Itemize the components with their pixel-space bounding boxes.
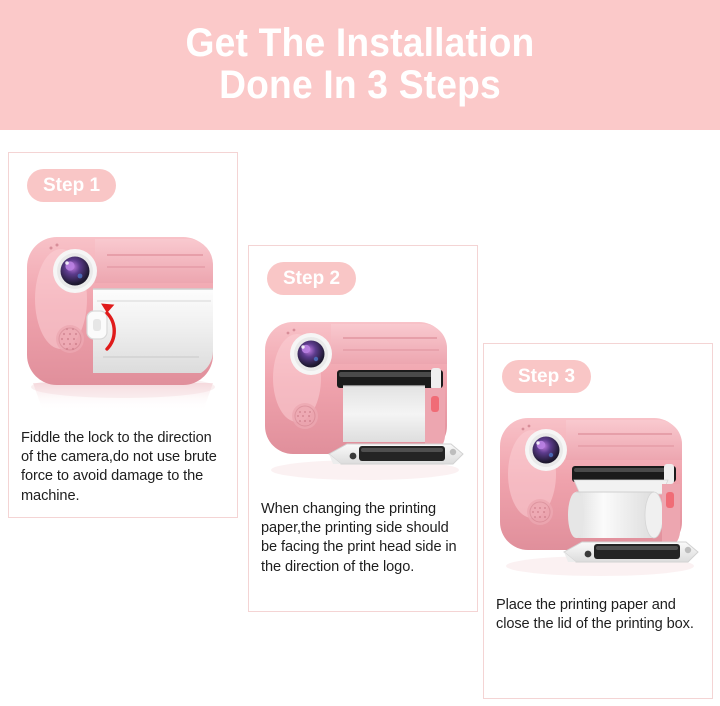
step-badge-2: Step 2 [267,262,356,295]
paper-roll [568,492,663,538]
page-title-line-1: Get The Installation [25,22,695,64]
header-banner: Get The Installation Done In 3 Steps [0,0,720,130]
product-photo-step-1 [15,215,233,427]
product-photo-step-3 [490,400,708,596]
page-title-line-2: Done In 3 Steps [25,64,695,106]
step-caption-2: When changing the printing paper,the pri… [261,500,467,577]
step-caption-1: Fiddle the lock to the direction of the … [21,429,227,506]
step-card-1: Step 1 [8,152,238,518]
product-photo-step-2 [255,304,473,500]
page-title: Get The Installation Done In 3 Steps [25,22,695,106]
print-head-lid [329,444,463,464]
step-caption-3: Place the printing paper and close the l… [496,596,702,634]
step-badge-1: Step 1 [27,169,116,202]
print-head-lid [564,542,698,562]
step-badge-3: Step 3 [502,360,591,393]
step-card-3: Step 3 [483,343,713,699]
instruction-page: Get The Installation Done In 3 Steps Ste… [0,0,720,706]
step-card-2: Step 2 [248,245,478,612]
